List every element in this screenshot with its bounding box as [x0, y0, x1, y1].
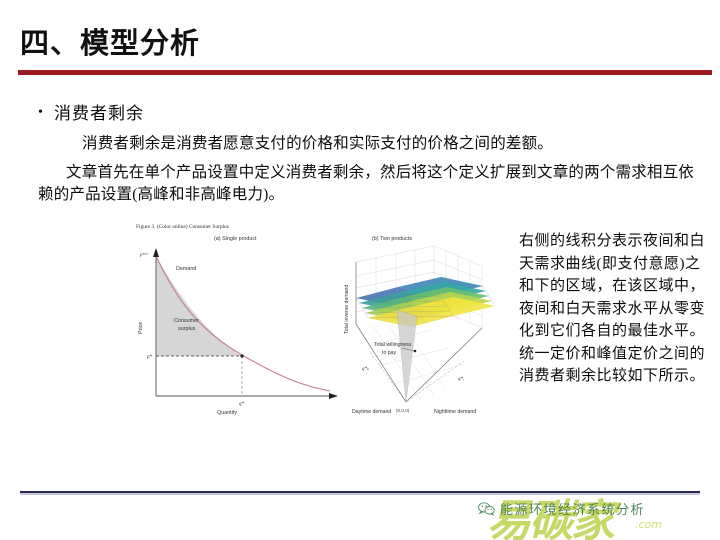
demand-curve-label: Demand	[176, 266, 196, 272]
panel-a-ytick-mid: p*	[146, 355, 153, 360]
panel-a-ylabel: Price	[138, 322, 144, 334]
bullet-label: 消费者剩余	[54, 103, 144, 124]
equilibrium-point	[240, 354, 243, 357]
panel-b-zlabel: Total inverse demand	[344, 285, 350, 334]
footer-rule-shadow	[20, 493, 700, 495]
wtp-annotation-line1: Total willingness	[374, 342, 412, 348]
slide-canvas: 四、模型分析 • 消费者剩余 消费者剩余是消费者愿意支付的价格和实际支付的价格之…	[0, 0, 720, 540]
surplus-label-line2: surplus	[178, 326, 196, 332]
footer-brand-text: 能源环境经济系统分析	[500, 499, 645, 518]
watermark-domain-text: .com	[635, 518, 662, 531]
title-underline-rule	[18, 70, 712, 75]
content-text-block: • 消费者剩余 消费者剩余是消费者愿意支付的价格和实际支付的价格之间的差额。 文…	[38, 103, 698, 206]
panel-a-x-axis-arrow	[329, 393, 338, 399]
footer-brand: 能源环境经济系统分析	[478, 499, 645, 518]
bullet-item-consumer-surplus: • 消费者剩余	[38, 103, 698, 124]
body-paragraph-1: 消费者剩余是消费者愿意支付的价格和实际支付的价格之间的差额。	[38, 133, 698, 155]
panel-a-xlabel: Quantity	[217, 410, 237, 416]
title-block: 四、模型分析	[20, 26, 710, 60]
panel-b-3d-plot: Total willingness to pay Total inverse d…	[344, 246, 494, 415]
panel-b-floor-grid	[356, 324, 482, 402]
consumer-surplus-area	[156, 256, 242, 356]
body-paragraph-2: 文章首先在单个产品设置中定义消费者剩余，然后将这个定义扩展到文章的两个需求相互依…	[38, 162, 698, 206]
panel-b-tick-x: q*ₖ	[362, 367, 370, 372]
wtp-annotation-line2: to pay	[382, 350, 397, 356]
willingness-point	[414, 350, 417, 353]
willingness-to-pay-wedge	[397, 310, 417, 402]
bullet-marker-icon: •	[38, 103, 54, 123]
panel-b-surface	[356, 277, 494, 327]
figure-explanation-text: 右侧的线积分表示夜间和白天需求曲线(即支付意愿)之和下的区域，在该区域中，夜间和…	[519, 230, 707, 388]
figure-consumer-surplus: Figure 3. (Color online) Consumer Surplu…	[134, 224, 494, 416]
wechat-icon	[478, 502, 495, 516]
panel-b-origin-label: (0,0,0)	[396, 408, 410, 413]
page-title: 四、模型分析	[20, 26, 710, 60]
surplus-label-line1: Consumer	[174, 318, 199, 324]
panel-a-ytick-top: pᵐᵃˣ	[139, 253, 149, 258]
panel-b-ylabel: Nighttime demand	[434, 409, 476, 415]
panel-a-xtick: q*	[239, 402, 245, 407]
panel-a-y-axis-arrow	[153, 248, 159, 257]
panel-b-xlabel: Daytime demand	[352, 409, 391, 415]
figure-svg: Demand Consumer surplus Quantity Price p…	[134, 224, 494, 416]
panel-b-tick-y: q*ᵢ	[458, 377, 464, 382]
